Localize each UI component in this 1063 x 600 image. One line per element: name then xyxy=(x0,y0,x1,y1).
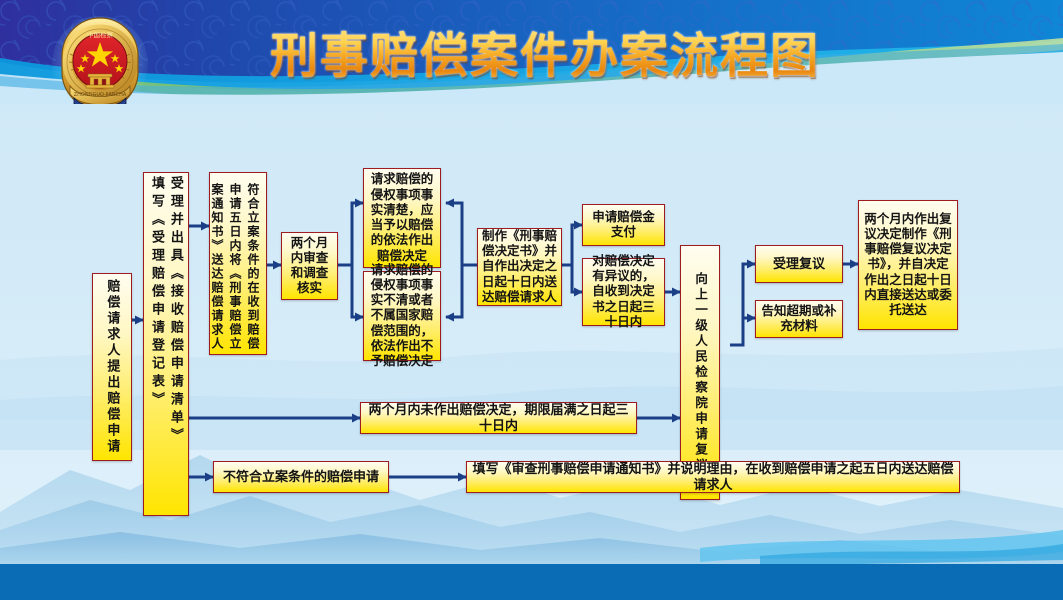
node-no-decision-in-two-months[interactable]: 两个月内未作出赔偿决定，期限届满之日起三十日内 xyxy=(360,402,637,434)
node-accept-col-right: 受理并出具《接收赔偿申请清单》 xyxy=(167,176,184,446)
node-apply-compensation-payment[interactable]: 申请赔偿金支付 xyxy=(582,204,665,246)
node-make-decision-document[interactable]: 制作《刑事赔偿决定书》并自作出决定之日起十日内送达赔偿请求人 xyxy=(477,228,562,306)
node-accept-review[interactable]: 受理复议 xyxy=(755,245,843,283)
poster-header: 中国检察 ZHONGGUO JIANCHA 刑事赔偿案件办案流程图 刑事赔偿案件… xyxy=(0,0,1063,104)
node-objection-thirty-days[interactable]: 对赔偿决定有异议的，自收到决定书之日起三十日内 xyxy=(582,258,665,326)
people-procuratorate-emblem: 中国检察 ZHONGGUO JIANCHA xyxy=(48,16,152,104)
node-notify-overdue-or-supplement[interactable]: 告知超期或补充材料 xyxy=(755,300,843,338)
node-accept-and-issue[interactable]: 受理并出具《接收赔偿申请清单》 填写《受理赔偿申请登记表》 xyxy=(143,172,189,516)
poster-title: 刑事赔偿案件办案流程图 刑事赔偿案件办案流程图 xyxy=(250,17,840,85)
poster-title-text: 刑事赔偿案件办案流程图 xyxy=(270,16,820,86)
svg-text:中国检察: 中国检察 xyxy=(87,30,114,39)
svg-text:ZHONGGUO JIANCHA: ZHONGGUO JIANCHA xyxy=(74,92,127,98)
node-facts-clear[interactable]: 请求赔偿的侵权事项事实清楚，应当予以赔偿的依法作出赔偿决定 xyxy=(363,168,441,268)
flowchart-poster: 中国检察 ZHONGGUO JIANCHA 刑事赔偿案件办案流程图 刑事赔偿案件… xyxy=(0,0,1063,600)
node-filing-qualified[interactable]: 符合立案条件的在收到赔偿申请五日内将《刑事赔偿立案通知书》送达赔偿请求人 xyxy=(209,172,267,355)
node-accept-col-left: 填写《受理赔偿申请登记表》 xyxy=(148,176,165,410)
node-not-qualified-application[interactable]: 不符合立案条件的赔偿申请 xyxy=(213,461,389,493)
node-applicant-request[interactable]: 赔偿请求人提出赔偿申请 xyxy=(92,273,132,461)
node-facts-unclear[interactable]: 请求赔偿的侵权事项事实不清或者不属国家赔偿范围的，依法作出不予赔偿决定 xyxy=(363,271,441,361)
node-fill-review-notice[interactable]: 填写《审查刑事赔偿申请通知书》并说明理由，在收到赔偿申请之起五日内送达赔偿请求人 xyxy=(466,461,960,493)
node-two-month-review[interactable]: 两个月内审查和调查核实 xyxy=(281,232,338,300)
node-review-decision-two-months[interactable]: 两个月内作出复议决定制作《刑事赔偿复议决定书》，并自决定作出之日起十日内直接送达… xyxy=(858,200,958,330)
